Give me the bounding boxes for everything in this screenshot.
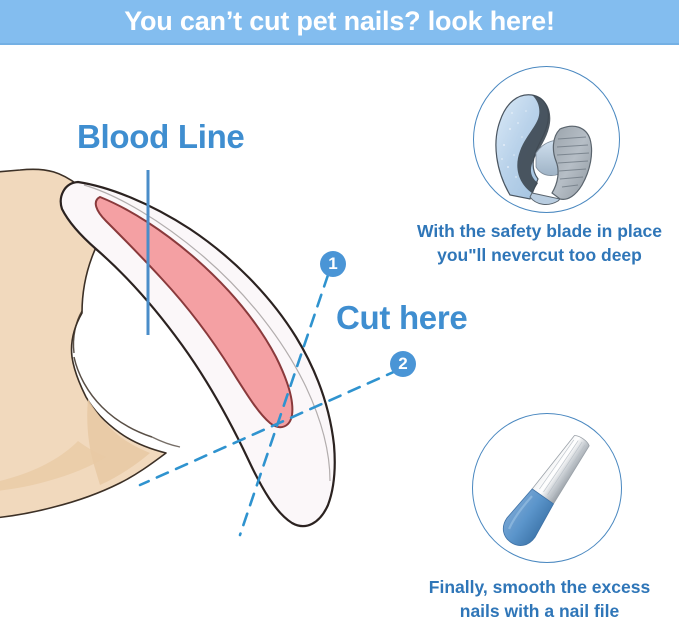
clipper-caption-line-2: you"ll nevercut too deep	[400, 243, 679, 267]
nail-clipper-blade-icon	[474, 67, 620, 213]
nail-file-photo-circle	[472, 413, 622, 563]
clipper-caption: With the safety blade in place you"ll ne…	[400, 219, 679, 267]
nail-file-icon	[473, 414, 622, 563]
file-caption-line-1: Finally, smooth the excess	[400, 575, 679, 599]
header-banner: You can’t cut pet nails? look here!	[0, 0, 679, 45]
cut-here-label: Cut here	[336, 299, 467, 337]
product-infographic-page: You can’t cut pet nails? look here!	[0, 0, 679, 626]
clipper-caption-line-1: With the safety blade in place	[400, 219, 679, 243]
nail-clipper-photo-circle	[473, 66, 620, 213]
cut-marker-badge-2: 2	[390, 351, 416, 377]
file-caption-line-2: nails with a nail file	[400, 599, 679, 623]
blood-line-label: Blood Line	[77, 118, 244, 156]
cut-marker-badge-1: 1	[320, 251, 346, 277]
nail-file-caption: Finally, smooth the excess nails with a …	[400, 575, 679, 623]
page-title: You can’t cut pet nails? look here!	[0, 0, 679, 43]
